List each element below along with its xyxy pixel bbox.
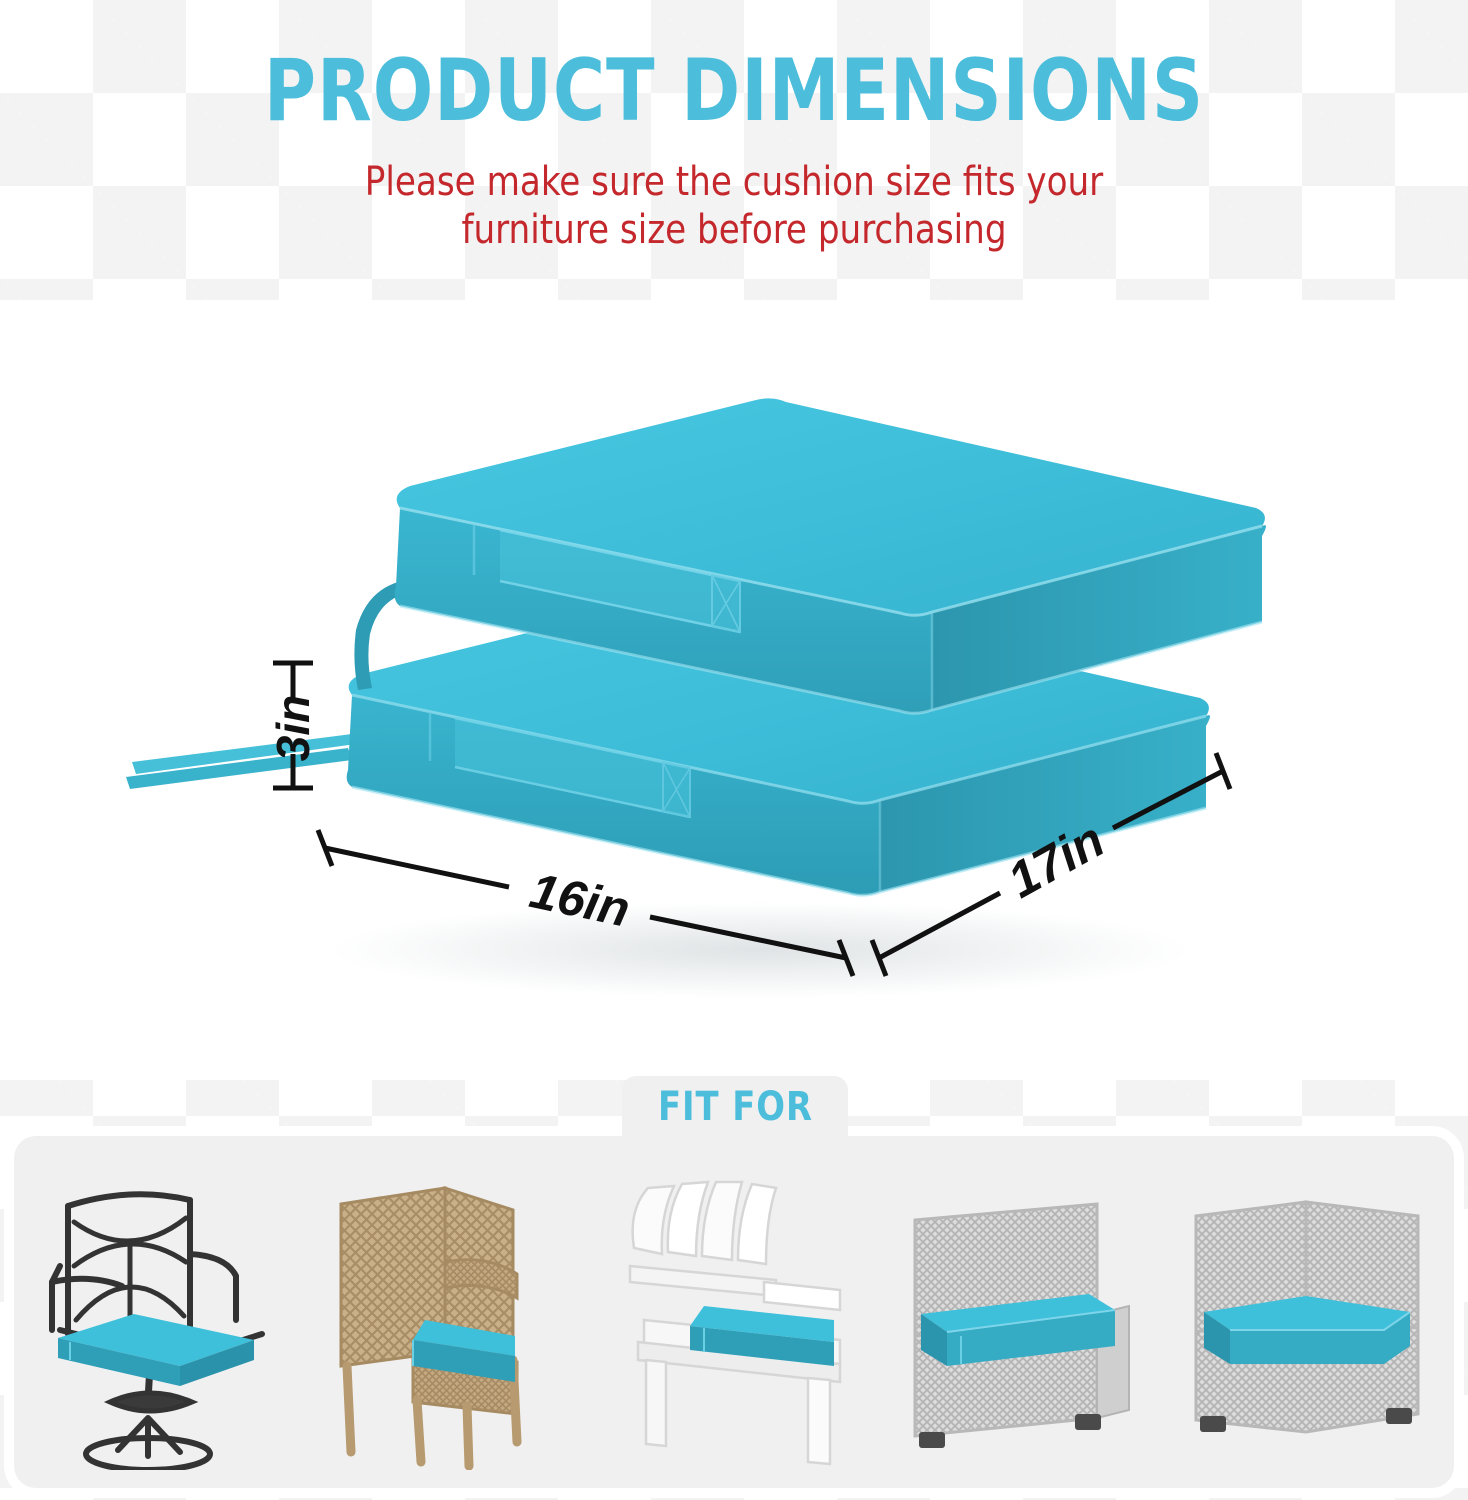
page-subtitle: Please make sure the cushion size fits y… xyxy=(37,134,1432,254)
subtitle-line-1: Please make sure the cushion size fits y… xyxy=(365,159,1103,205)
fit-for-item-gray-wicker-armless-sectional xyxy=(883,1160,1159,1470)
fit-for-item-wicker-rattan-armchair xyxy=(309,1160,585,1470)
dimension-height-label: 3in xyxy=(267,695,319,761)
subtitle-line-2: furniture size before purchasing xyxy=(461,207,1006,253)
product-shadow xyxy=(330,902,1190,998)
fit-for-panel xyxy=(14,1136,1454,1488)
header: PRODUCT DIMENSIONS Please make sure the … xyxy=(0,0,1468,254)
fit-for-item-gray-wicker-corner-sectional xyxy=(1170,1160,1446,1470)
fit-for-tab: FIT FOR xyxy=(622,1076,848,1138)
fit-for-item-white-adirondack-chair xyxy=(596,1160,872,1470)
product-illustration: 3in 16in 17in xyxy=(0,330,1468,1050)
fit-for-label: FIT FOR xyxy=(657,1084,812,1130)
page-title: PRODUCT DIMENSIONS xyxy=(59,0,1410,134)
fit-for-item-metal-swivel-dining-chair xyxy=(22,1160,298,1470)
seat-cushion xyxy=(58,1314,254,1386)
